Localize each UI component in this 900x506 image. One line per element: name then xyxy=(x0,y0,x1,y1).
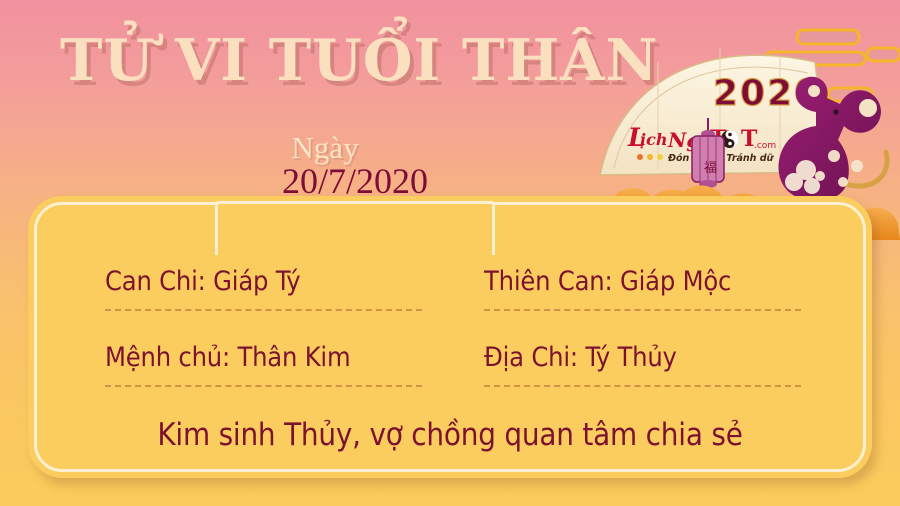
rat-flower-decor xyxy=(815,150,863,187)
svg-text:L: L xyxy=(627,123,646,152)
lichngaytot-logo: L ịch Ngày T T .com Đón lành - Tránh dữ xyxy=(627,123,776,164)
field-divider xyxy=(484,309,801,311)
field-can-chi-text: Can Chi: Giáp Tý xyxy=(105,257,422,307)
logo-tagline: Đón lành - Tránh dữ xyxy=(667,153,775,164)
date-tab-notch xyxy=(215,201,495,255)
field-dia-chi: Địa Chi: Tý Thủy xyxy=(450,333,829,409)
svg-text:T: T xyxy=(710,126,727,152)
field-menh-chu: Mệnh chủ: Thân Kim xyxy=(71,333,450,409)
svg-text:福: 福 xyxy=(704,161,717,176)
field-menh-chu-text: Mệnh chủ: Thân Kim xyxy=(105,333,422,383)
card-inner-border: 20/7/2020 Can Chi: Giáp Tý Thiên Can: Gi… xyxy=(34,202,866,472)
date-value: 20/7/2020 xyxy=(215,153,495,209)
field-thien-can: Thiên Can: Giáp Mộc xyxy=(450,257,829,333)
field-divider xyxy=(484,385,801,387)
svg-text:Ngày: Ngày xyxy=(667,128,726,152)
lantern-icon: 福 xyxy=(692,118,724,200)
field-can-chi: Can Chi: Giáp Tý xyxy=(71,257,450,333)
svg-text:ịch: ịch xyxy=(640,130,667,149)
horoscope-info-card: 20/7/2020 Can Chi: Giáp Tý Thiên Can: Gi… xyxy=(28,196,872,478)
rat-zodiac-figure xyxy=(778,77,887,201)
field-divider xyxy=(105,309,422,311)
year-text: 2020 xyxy=(713,73,821,114)
card-content: Can Chi: Giáp Tý Thiên Can: Giáp Mộc Mện… xyxy=(71,257,829,451)
field-dia-chi-text: Địa Chi: Tý Thủy xyxy=(484,333,801,383)
gold-cloud-bars xyxy=(748,30,900,101)
summary-text: Kim sinh Thủy, vợ chồng quan tâm chia sẻ xyxy=(71,417,829,453)
svg-text:.com: .com xyxy=(754,141,776,151)
field-thien-can-text: Thiên Can: Giáp Mộc xyxy=(484,257,801,307)
page-title: TỬ VI TUỔI THÂN xyxy=(60,32,630,89)
field-divider xyxy=(105,385,422,387)
horoscope-banner: 2020 L ịch Ngày T T .com Đón lành - Trán… xyxy=(0,0,900,506)
svg-text:T: T xyxy=(741,126,758,152)
field-grid: Can Chi: Giáp Tý Thiên Can: Giáp Mộc Mện… xyxy=(71,257,829,409)
